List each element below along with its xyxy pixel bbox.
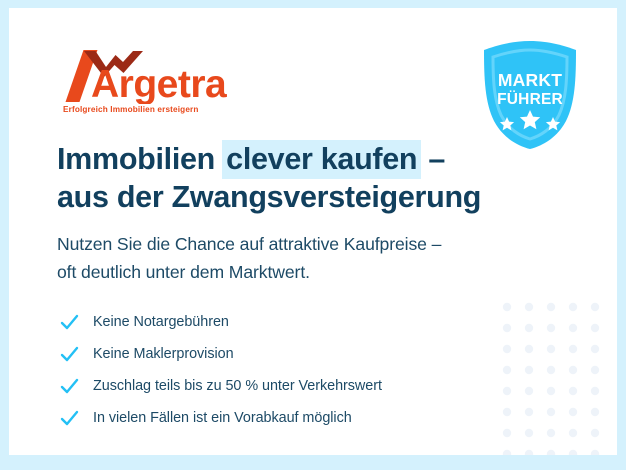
marktfuehrer-badge-icon: MARKT FÜHRER xyxy=(479,39,581,151)
headline: Immobilien clever kaufen – aus der Zwang… xyxy=(57,140,481,216)
brand-logo[interactable]: Argetra Erfolgreich Immobilien ersteiger… xyxy=(57,46,257,114)
svg-text:MARKT: MARKT xyxy=(498,70,562,90)
list-item: Keine Notargebühren xyxy=(59,306,382,338)
headline-text-before: Immobilien xyxy=(57,142,223,176)
subheadline: Nutzen Sie die Chance auf attraktive Kau… xyxy=(57,230,441,286)
headline-line-2: aus der Zwangsversteigerung xyxy=(57,180,481,214)
list-item-label: In vielen Fällen ist ein Vorabkauf mögli… xyxy=(93,410,352,426)
list-item-label: Keine Notargebühren xyxy=(93,314,229,330)
subheadline-line-1: Nutzen Sie die Chance auf attraktive Kau… xyxy=(57,234,441,254)
banner-card: Argetra Erfolgreich Immobilien ersteiger… xyxy=(9,8,617,455)
argetra-wordmark-icon: Argetra xyxy=(57,46,237,104)
benefits-list: Keine Notargebühren Keine Maklerprovisio… xyxy=(59,306,382,434)
subheadline-line-2: oft deutlich unter dem Marktwert. xyxy=(57,262,310,282)
check-icon xyxy=(59,312,79,332)
svg-text:FÜHRER: FÜHRER xyxy=(497,91,563,108)
check-icon xyxy=(59,344,79,364)
list-item: In vielen Fällen ist ein Vorabkauf mögli… xyxy=(59,402,382,434)
svg-text:Argetra: Argetra xyxy=(91,63,227,104)
dot-grid-decoration xyxy=(499,299,609,455)
list-item-label: Keine Maklerprovision xyxy=(93,346,234,362)
headline-text-after: – xyxy=(420,142,445,176)
logo-tagline: Erfolgreich Immobilien ersteigern xyxy=(63,105,257,114)
list-item: Keine Maklerprovision xyxy=(59,338,382,370)
check-icon xyxy=(59,408,79,428)
list-item: Zuschlag teils bis zu 50 % unter Verkehr… xyxy=(59,370,382,402)
headline-highlight: clever kaufen xyxy=(222,140,421,179)
promo-banner: Argetra Erfolgreich Immobilien ersteiger… xyxy=(0,0,626,470)
list-item-label: Zuschlag teils bis zu 50 % unter Verkehr… xyxy=(93,378,382,394)
check-icon xyxy=(59,376,79,396)
headline-line-1: Immobilien clever kaufen – xyxy=(57,142,445,176)
